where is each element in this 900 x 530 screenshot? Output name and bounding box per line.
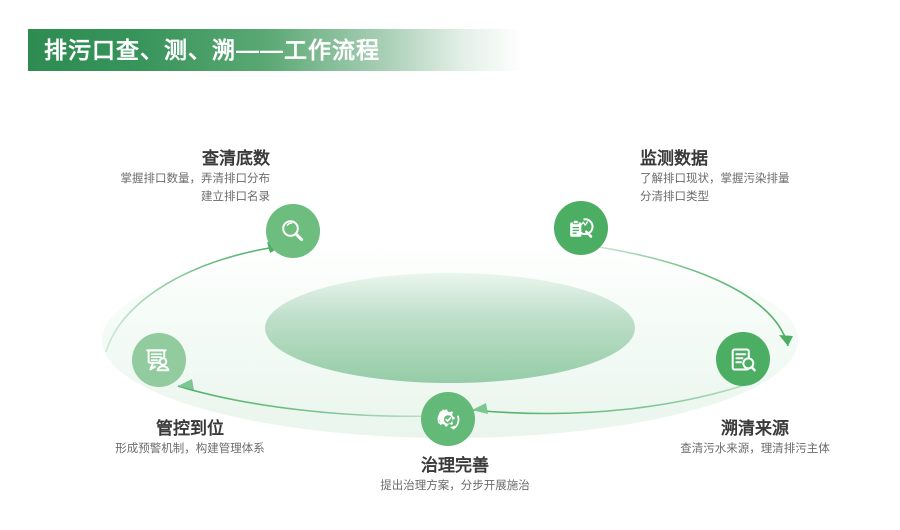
node-zhili[interactable] (421, 392, 475, 446)
board-person-icon (144, 345, 174, 375)
node-title-suqing: 溯清来源 (615, 418, 895, 441)
node-suqing[interactable] (716, 332, 770, 386)
node-desc-suqing-1: 查清污水来源，理清排污主体 (615, 441, 895, 459)
gear-refresh-icon (434, 405, 463, 434)
node-guankong[interactable] (132, 333, 186, 387)
node-jiance[interactable] (554, 201, 608, 255)
clipboard-monitor-icon (566, 213, 596, 243)
node-desc-chaqing-2: 建立排口名录 (0, 189, 270, 207)
node-desc-guankong-1: 形成预警机制，构建管理体系 (55, 441, 325, 459)
node-desc-zhili-1: 提出治理方案，分步开展施治 (315, 478, 595, 496)
label-suqing: 溯清来源 查清污水来源，理清排污主体 (615, 418, 895, 459)
node-desc-jiance-2: 分清排口类型 (640, 189, 890, 207)
label-guankong: 管控到位 形成预警机制，构建管理体系 (55, 418, 325, 459)
node-title-chaqing: 查清底数 (0, 148, 270, 171)
node-title-guankong: 管控到位 (55, 418, 325, 441)
node-desc-chaqing-1: 掌握排口数量，弄清排口分布 (0, 171, 270, 189)
label-chaqing: 查清底数 掌握排口数量，弄清排口分布 建立排口名录 (0, 148, 270, 207)
node-title-zhili: 治理完善 (315, 455, 595, 478)
slide-canvas: 排污口查、测、溯——工作流程 (0, 0, 900, 530)
label-jiance: 监测数据 了解排口现状，掌握污染排量 分清排口类型 (640, 148, 890, 207)
title-banner: 排污口查、测、溯——工作流程 (28, 29, 523, 71)
document-search-icon (729, 345, 758, 374)
node-title-jiance: 监测数据 (640, 148, 890, 171)
label-zhili: 治理完善 提出治理方案，分步开展施治 (315, 455, 595, 496)
page-title: 排污口查、测、溯——工作流程 (28, 39, 380, 62)
node-chaqing[interactable] (266, 204, 320, 258)
node-desc-jiance-1: 了解排口现状，掌握污染排量 (640, 171, 890, 189)
magnifier-icon (279, 217, 307, 245)
